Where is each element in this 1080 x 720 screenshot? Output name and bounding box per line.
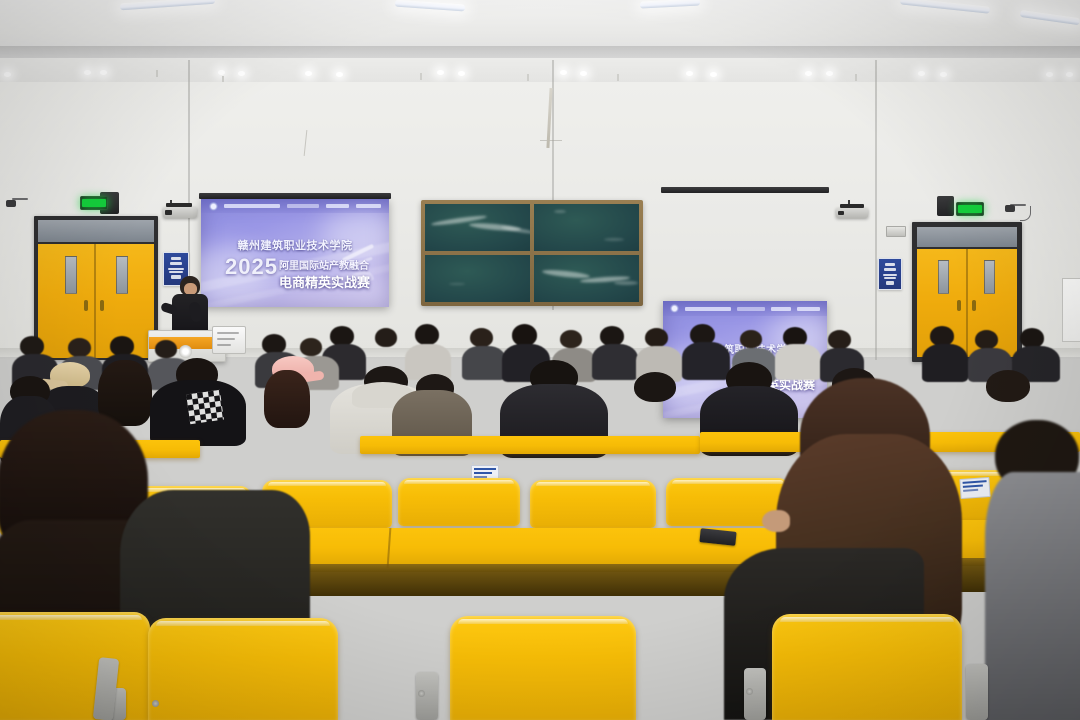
screen-college-name-left: 赣州建筑职业技术学院 — [201, 237, 389, 253]
partner-logo-text — [326, 204, 349, 208]
door-handle[interactable] — [972, 300, 976, 311]
wall-camera — [1005, 205, 1015, 212]
blackboard-panel — [534, 204, 639, 251]
door-handle[interactable] — [84, 300, 88, 311]
door-window — [938, 260, 949, 294]
seat-bolt — [746, 688, 753, 695]
projector-shadow — [166, 203, 192, 207]
projection-screen-left: 赣州建筑职业技术学院 2025 阿里国际站产教融合 电商精英实战赛 — [201, 199, 389, 307]
partner-logo-text — [771, 307, 791, 311]
partner-logo-text — [797, 307, 820, 311]
screen-subtitle1-left: 阿里国际站产教融合 — [279, 257, 369, 272]
screen-logo-bar-left — [201, 199, 389, 213]
wall-device — [886, 226, 906, 237]
door-handle[interactable] — [957, 300, 961, 311]
checker-pattern — [186, 390, 224, 424]
blackboard-panel — [425, 204, 530, 251]
partner-logo-text — [685, 307, 731, 311]
seat-back-front[interactable] — [450, 616, 636, 720]
emergency-exit-sign — [80, 196, 108, 210]
door-window — [984, 260, 995, 294]
blackboard — [421, 200, 643, 306]
seat-back-front[interactable] — [772, 614, 962, 720]
ceiling-projector — [836, 208, 868, 218]
seat-back[interactable] — [398, 478, 520, 526]
screen-logo-bar-right — [663, 301, 827, 316]
blackboard-panel — [534, 255, 639, 302]
door-window — [65, 256, 77, 294]
seat-back-front[interactable] — [0, 612, 150, 720]
student-with-pink-cap — [262, 356, 324, 434]
desk-row-3 — [360, 436, 700, 454]
hand — [762, 510, 790, 532]
door-window — [116, 256, 128, 294]
lecture-hall-photo: 赣州建筑职业技术学院 2025 阿里国际站产教融合 电商精英实战赛 — [0, 0, 1080, 720]
seat-bolt — [152, 700, 159, 707]
door-handle[interactable] — [100, 300, 104, 311]
school-emblem-icon — [209, 202, 218, 211]
student-right-edge-foreground — [985, 420, 1080, 720]
screen-housing-right — [661, 187, 829, 193]
seat-bolt — [418, 690, 425, 697]
seat-back-front[interactable] — [148, 618, 338, 720]
screen-subtitle2-left: 电商精英实战赛 — [279, 272, 370, 291]
seat-back[interactable] — [530, 480, 656, 528]
wall-speaker — [937, 196, 954, 216]
blue-wall-notice — [878, 258, 902, 290]
wall-crack — [540, 140, 562, 141]
projector-shadow — [840, 204, 864, 208]
emergency-exit-sign — [956, 202, 984, 216]
leaflet[interactable] — [959, 477, 990, 499]
door-transom — [917, 227, 1017, 247]
seat-support-arm — [966, 664, 988, 720]
wall-seam — [875, 60, 877, 360]
partner-logo-text — [287, 204, 319, 208]
partner-logo-text — [224, 204, 279, 208]
door-transom — [38, 220, 154, 242]
wall-camera — [6, 200, 16, 207]
screen-year-left: 2025 — [225, 254, 278, 280]
partner-logo-text — [356, 204, 382, 208]
partner-logo-text — [737, 307, 766, 311]
blackboard-panel — [425, 255, 530, 302]
leaflet[interactable] — [472, 462, 474, 464]
school-emblem-icon — [670, 304, 679, 313]
ceiling-projector — [163, 207, 197, 218]
